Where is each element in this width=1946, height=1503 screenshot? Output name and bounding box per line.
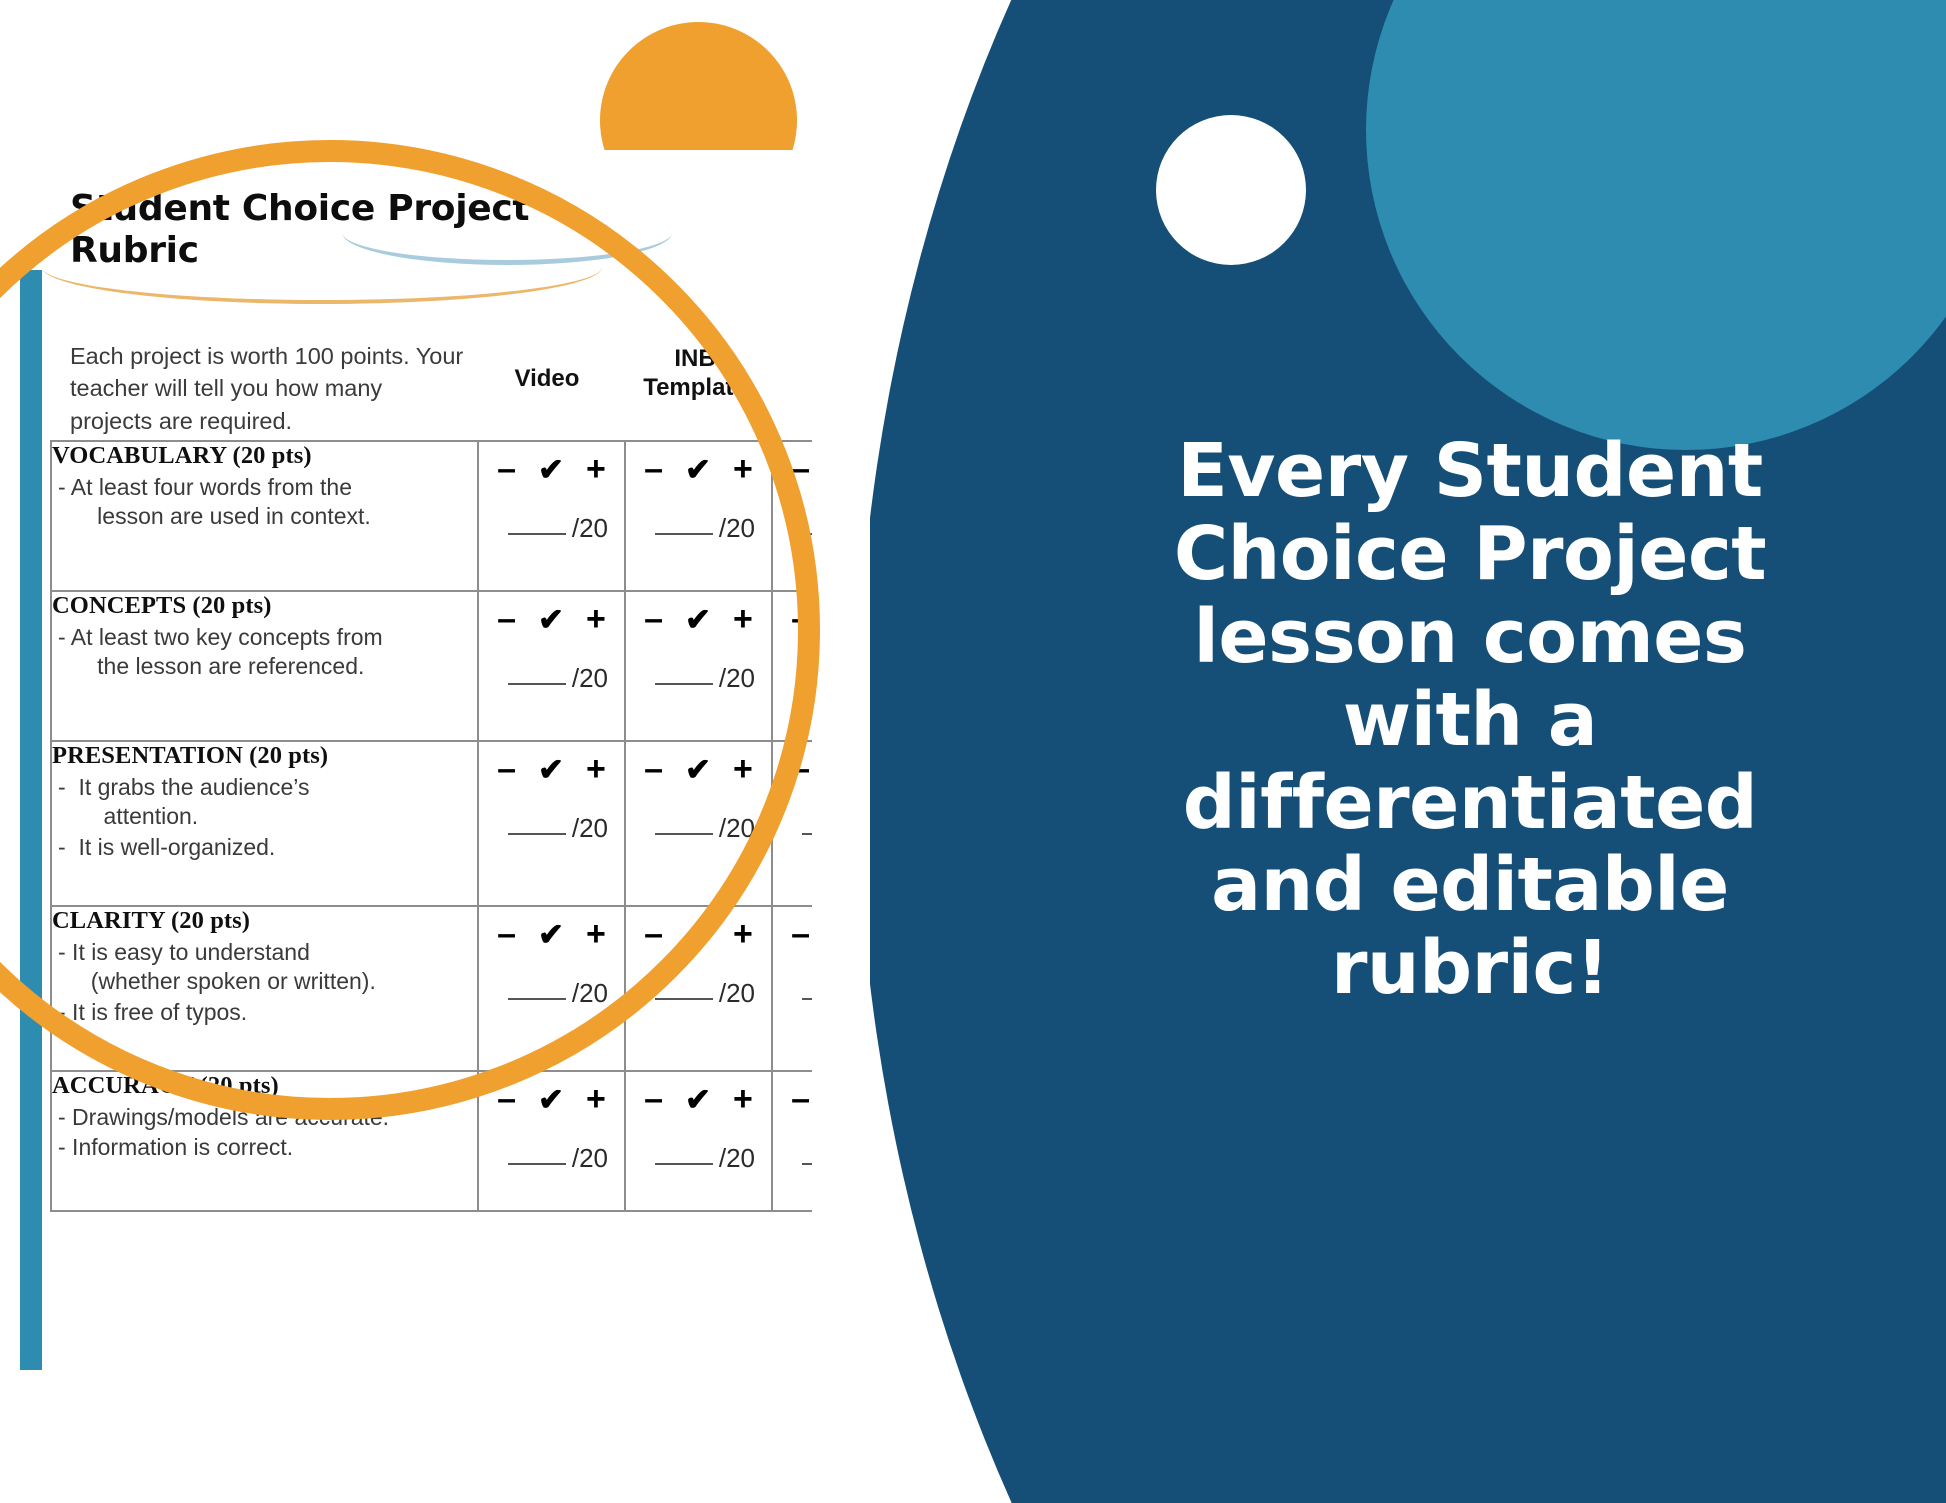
document-title: Student Choice Project Rubric	[70, 188, 590, 273]
score-blank-line[interactable]	[802, 683, 812, 685]
check-icon[interactable]: ✔	[685, 604, 711, 635]
minus-icon[interactable]: –	[644, 452, 663, 486]
plus-icon[interactable]: +	[733, 602, 753, 636]
criterion-cell-vocabulary: VOCABULARY (20 pts) - At least four word…	[51, 441, 478, 591]
score-blank-line[interactable]	[655, 683, 713, 685]
table-row: CONCEPTS (20 pts) - At least two key con…	[51, 591, 812, 741]
minus-icon[interactable]: –	[644, 752, 663, 786]
headline-line-6: and editable	[1100, 844, 1840, 927]
score-suffix: /20	[719, 663, 755, 693]
criterion-bullet: - Drawings/models are accurate.	[52, 1103, 477, 1132]
score-blank-line[interactable]	[655, 998, 713, 1000]
mark-options[interactable]: – ✔ +	[626, 907, 771, 951]
criterion-cell-accuracy: ACCURACY (20 pts) - Drawings/models are …	[51, 1071, 478, 1211]
plus-icon[interactable]: +	[733, 917, 753, 951]
criterion-title: VOCABULARY (20 pts)	[52, 442, 477, 470]
score-blank-line[interactable]	[655, 1163, 713, 1165]
score-entry[interactable]: /20	[479, 978, 624, 1017]
score-cell-third[interactable]: – ✔ + /20	[772, 741, 812, 906]
score-cell-video[interactable]: – ✔ + /20	[478, 441, 625, 591]
score-suffix: /20	[572, 663, 608, 693]
criterion-bullet: - Information is correct.	[52, 1133, 477, 1162]
mark-options[interactable]: – ✔ +	[773, 592, 812, 636]
check-icon[interactable]: ✔	[538, 604, 564, 635]
table-row: PRESENTATION (20 pts) - It grabs the aud…	[51, 741, 812, 906]
headline-line-2: Choice Project	[1100, 513, 1840, 596]
score-entry[interactable]: /20	[479, 813, 624, 852]
minus-icon[interactable]: –	[497, 917, 516, 951]
score-blank-line[interactable]	[802, 998, 812, 1000]
score-entry[interactable]: /20	[626, 513, 771, 552]
minus-icon[interactable]: –	[497, 1082, 516, 1116]
criterion-bullet: - It is free of typos.	[52, 998, 477, 1027]
mark-options[interactable]: – ✔ +	[773, 907, 812, 951]
score-blank-line[interactable]	[655, 533, 713, 535]
headline-line-3: lesson comes	[1100, 596, 1840, 679]
mark-options[interactable]: – ✔ +	[773, 442, 812, 486]
promo-graphic: Student Choice Project Rubric Each proje…	[0, 0, 1946, 1503]
headline-line-5: differentiated	[1100, 762, 1840, 845]
rubric-table: VOCABULARY (20 pts) - At least four word…	[50, 440, 812, 1212]
score-blank-line[interactable]	[802, 1163, 812, 1165]
score-suffix: /20	[719, 1143, 755, 1173]
score-suffix: /20	[572, 813, 608, 843]
criterion-bullet: - At least two key concepts from the les…	[52, 623, 477, 682]
criterion-bullet: - It grabs the audience’s attention.	[52, 773, 477, 832]
check-icon[interactable]: ✔	[685, 454, 711, 485]
criterion-bullet: - It is easy to understand (whether spok…	[52, 938, 477, 997]
mark-options[interactable]: – ✔ +	[626, 742, 771, 786]
score-cell-third[interactable]: – ✔ + /20	[772, 1071, 812, 1211]
score-blank-line[interactable]	[508, 533, 566, 535]
mark-options[interactable]: – ✔ +	[626, 442, 771, 486]
score-entry[interactable]: /20	[626, 978, 771, 1017]
score-entry[interactable]: /20	[773, 663, 812, 702]
score-cell-inb[interactable]: – ✔ + /20	[625, 1071, 772, 1211]
criterion-title: ACCURACY (20 pts)	[52, 1072, 477, 1100]
white-circle-decor	[1156, 115, 1306, 265]
score-cell-inb[interactable]: – ✔ + /20	[625, 906, 772, 1071]
minus-icon[interactable]: –	[497, 602, 516, 636]
score-suffix: /20	[719, 813, 755, 843]
criterion-cell-concepts: CONCEPTS (20 pts) - At least two key con…	[51, 591, 478, 741]
headline-line-7: rubric!	[1100, 927, 1840, 1010]
score-blank-line[interactable]	[655, 833, 713, 835]
document-title-line1: Student Choice Project	[70, 188, 529, 229]
score-blank-line[interactable]	[508, 1163, 566, 1165]
table-row: ACCURACY (20 pts) - Drawings/models are …	[51, 1071, 812, 1211]
table-row: CLARITY (20 pts) - It is easy to underst…	[51, 906, 812, 1071]
minus-icon[interactable]: –	[644, 1082, 663, 1116]
headline-line-1: Every Student	[1100, 430, 1840, 513]
score-entry[interactable]: /20	[479, 1143, 624, 1182]
minus-icon[interactable]: –	[791, 452, 810, 486]
minus-icon[interactable]: –	[497, 452, 516, 486]
mark-options[interactable]: – ✔ +	[479, 907, 624, 951]
criterion-cell-presentation: PRESENTATION (20 pts) - It grabs the aud…	[51, 741, 478, 906]
score-cell-video[interactable]: – ✔ + /20	[478, 741, 625, 906]
score-entry[interactable]: /20	[773, 513, 812, 552]
score-cell-inb[interactable]: – ✔ + /20	[625, 741, 772, 906]
rubric-table-body: VOCABULARY (20 pts) - At least four word…	[51, 441, 812, 1211]
headline-line-4: with a	[1100, 679, 1840, 762]
check-icon[interactable]: ✔	[685, 1084, 711, 1115]
document-title-line2: Rubric	[70, 230, 199, 271]
document-intro-text: Each project is worth 100 points. Your t…	[70, 340, 470, 437]
minus-icon[interactable]: –	[791, 1082, 810, 1116]
score-entry[interactable]: /20	[773, 813, 812, 852]
score-cell-third[interactable]: – ✔ + /20	[772, 441, 812, 591]
score-entry[interactable]: /20	[626, 813, 771, 852]
plus-icon[interactable]: +	[586, 602, 606, 636]
score-cell-video[interactable]: – ✔ + /20	[478, 906, 625, 1071]
plus-icon[interactable]: +	[586, 917, 606, 951]
score-blank-line[interactable]	[802, 833, 812, 835]
score-suffix: /20	[719, 978, 755, 1008]
plus-icon[interactable]: +	[586, 452, 606, 486]
mark-options[interactable]: – ✔ +	[479, 442, 624, 486]
rubric-document: Student Choice Project Rubric Each proje…	[12, 150, 812, 1503]
mark-options[interactable]: – ✔ +	[479, 1072, 624, 1116]
score-suffix: /20	[572, 1143, 608, 1173]
criterion-title: CLARITY (20 pts)	[52, 907, 477, 935]
plus-icon[interactable]: +	[733, 452, 753, 486]
minus-icon[interactable]: –	[791, 752, 810, 786]
plus-icon[interactable]: +	[733, 752, 753, 786]
criterion-cell-clarity: CLARITY (20 pts) - It is easy to underst…	[51, 906, 478, 1071]
criterion-bullet: - It is well-organized.	[52, 833, 477, 862]
check-icon[interactable]: ✔	[538, 754, 564, 785]
plus-icon[interactable]: +	[733, 1082, 753, 1116]
score-cell-third[interactable]: – ✔ + /20	[772, 906, 812, 1071]
mark-options[interactable]: – ✔ +	[479, 592, 624, 636]
check-icon[interactable]: ✔	[538, 919, 564, 950]
promo-headline: Every Student Choice Project lesson come…	[1100, 430, 1840, 1010]
score-cell-inb[interactable]: – ✔ + /20	[625, 441, 772, 591]
score-blank-line[interactable]	[508, 998, 566, 1000]
column-header-inb-template: INBTemplate	[620, 345, 770, 403]
minus-icon[interactable]: –	[644, 917, 663, 951]
check-icon[interactable]: ✔	[685, 919, 711, 950]
check-icon[interactable]: ✔	[685, 754, 711, 785]
score-entry[interactable]: /20	[626, 1143, 771, 1182]
score-cell-third[interactable]: – ✔ + /20	[772, 591, 812, 741]
minus-icon[interactable]: –	[791, 602, 810, 636]
score-suffix: /20	[572, 978, 608, 1008]
document-accent-bar	[20, 270, 42, 1370]
score-entry[interactable]: /20	[773, 1143, 812, 1182]
minus-icon[interactable]: –	[791, 917, 810, 951]
criterion-title: CONCEPTS (20 pts)	[52, 592, 477, 620]
check-icon[interactable]: ✔	[538, 1084, 564, 1115]
mark-options[interactable]: – ✔ +	[626, 592, 771, 636]
mark-options[interactable]: – ✔ +	[626, 1072, 771, 1116]
mark-options[interactable]: – ✔ +	[773, 1072, 812, 1116]
score-entry[interactable]: /20	[773, 978, 812, 1017]
mark-options[interactable]: – ✔ +	[773, 742, 812, 786]
score-entry[interactable]: /20	[626, 663, 771, 702]
score-blank-line[interactable]	[508, 683, 566, 685]
plus-icon[interactable]: +	[586, 752, 606, 786]
score-blank-line[interactable]	[802, 533, 812, 535]
minus-icon[interactable]: –	[497, 752, 516, 786]
column-header-video: Video	[482, 365, 612, 394]
score-entry[interactable]: /20	[479, 513, 624, 552]
score-suffix: /20	[719, 513, 755, 543]
table-row: VOCABULARY (20 pts) - At least four word…	[51, 441, 812, 591]
score-suffix: /20	[572, 513, 608, 543]
score-cell-video[interactable]: – ✔ + /20	[478, 1071, 625, 1211]
score-blank-line[interactable]	[508, 833, 566, 835]
score-cell-video[interactable]: – ✔ + /20	[478, 591, 625, 741]
criterion-title: PRESENTATION (20 pts)	[52, 742, 477, 770]
mark-options[interactable]: – ✔ +	[479, 742, 624, 786]
criterion-bullet: - At least four words from the lesson ar…	[52, 473, 477, 532]
check-icon[interactable]: ✔	[538, 454, 564, 485]
minus-icon[interactable]: –	[644, 602, 663, 636]
score-entry[interactable]: /20	[479, 663, 624, 702]
plus-icon[interactable]: +	[586, 1082, 606, 1116]
score-cell-inb[interactable]: – ✔ + /20	[625, 591, 772, 741]
